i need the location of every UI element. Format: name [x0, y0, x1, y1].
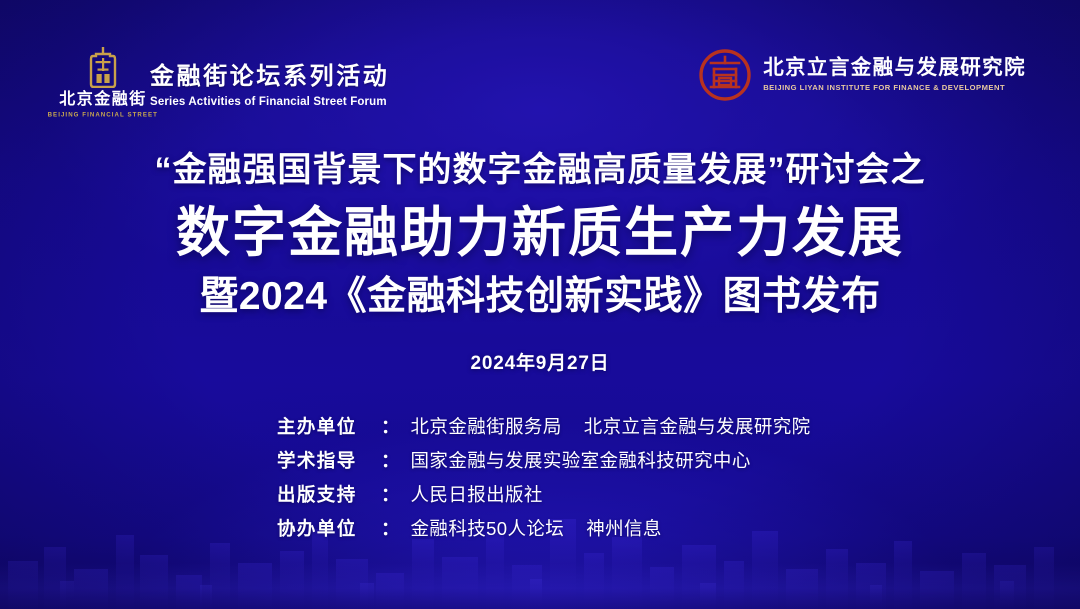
event-title-line-2: 数字金融助力新质生产力发展 — [0, 202, 1080, 262]
credit-value: 人民日报出版社 — [411, 483, 543, 507]
conference-banner: 北京金融街 BEIJING FINANCIAL STREET 金融街论坛系列活动… — [0, 0, 1080, 609]
credit-row: 协办单位：金融科技50人论坛神州信息 — [277, 517, 803, 541]
event-date: 2024年9月27日 — [0, 348, 1080, 375]
liyan-institute-logo: 北京立言金融与发展研究院 BEIJING LIYAN INSTITUTE FOR… — [698, 48, 1026, 102]
liyan-institute-name-block: 北京立言金融与发展研究院 BEIJING LIYAN INSTITUTE FOR… — [763, 56, 1026, 93]
event-title-line-1: “金融强国背景下的数字金融高质量发展”研讨会之 — [0, 150, 1080, 190]
credit-label: 主办单位 — [277, 415, 381, 439]
credit-value: 国家金融与发展实验室金融科技研究中心 — [411, 449, 751, 473]
credit-colon: ： — [381, 517, 400, 541]
credit-row: 学术指导：国家金融与发展实验室金融科技研究中心 — [277, 449, 803, 473]
organizer-credits-list: 主办单位：北京金融街服务局北京立言金融与发展研究院学术指导：国家金融与发展实验室… — [0, 415, 1080, 541]
forum-series-en-title: Series Activities of Financial Street Fo… — [150, 95, 389, 110]
forum-series-cn-title: 金融街论坛系列活动 — [150, 63, 389, 91]
credit-label: 出版支持 — [277, 483, 381, 507]
credit-label: 学术指导 — [277, 449, 381, 473]
credit-row: 出版支持：人民日报出版社 — [277, 483, 803, 507]
ground-glow — [0, 563, 1080, 609]
credit-colon: ： — [381, 483, 400, 507]
forum-series-title-block: 金融街论坛系列活动 Series Activities of Financial… — [150, 63, 389, 118]
credit-value: 北京金融街服务局北京立言金融与发展研究院 — [411, 415, 811, 439]
credit-colon: ： — [381, 415, 400, 439]
beijing-financial-street-logo: 北京金融街 BEIJING FINANCIAL STREET — [70, 44, 136, 118]
financial-street-forum-logo: 北京金融街 BEIJING FINANCIAL STREET 金融街论坛系列活动… — [70, 44, 389, 118]
beijing-financial-street-cn-name: 北京金融街 — [59, 91, 147, 109]
event-title-line-3: 暨2024《金融科技创新实践》图书发布 — [0, 275, 1080, 320]
credit-row: 主办单位：北京金融街服务局北京立言金融与发展研究院 — [277, 415, 803, 439]
beijing-financial-street-en-name: BEIJING FINANCIAL STREET — [48, 112, 158, 119]
event-title-block: “金融强国背景下的数字金融高质量发展”研讨会之 数字金融助力新质生产力发展 暨2… — [0, 150, 1080, 375]
credit-value: 金融科技50人论坛神州信息 — [411, 517, 662, 541]
credit-label: 协办单位 — [277, 517, 381, 541]
credit-colon: ： — [381, 449, 400, 473]
liyan-institute-cn-name: 北京立言金融与发展研究院 — [763, 56, 1026, 80]
liyan-institute-en-name: BEIJING LIYAN INSTITUTE FOR FINANCE & DE… — [763, 83, 1026, 92]
beijing-financial-street-bell-mark-icon — [85, 44, 121, 88]
liyan-institute-round-seal-icon — [698, 48, 752, 102]
banner-header: 北京金融街 BEIJING FINANCIAL STREET 金融街论坛系列活动… — [0, 0, 1080, 130]
